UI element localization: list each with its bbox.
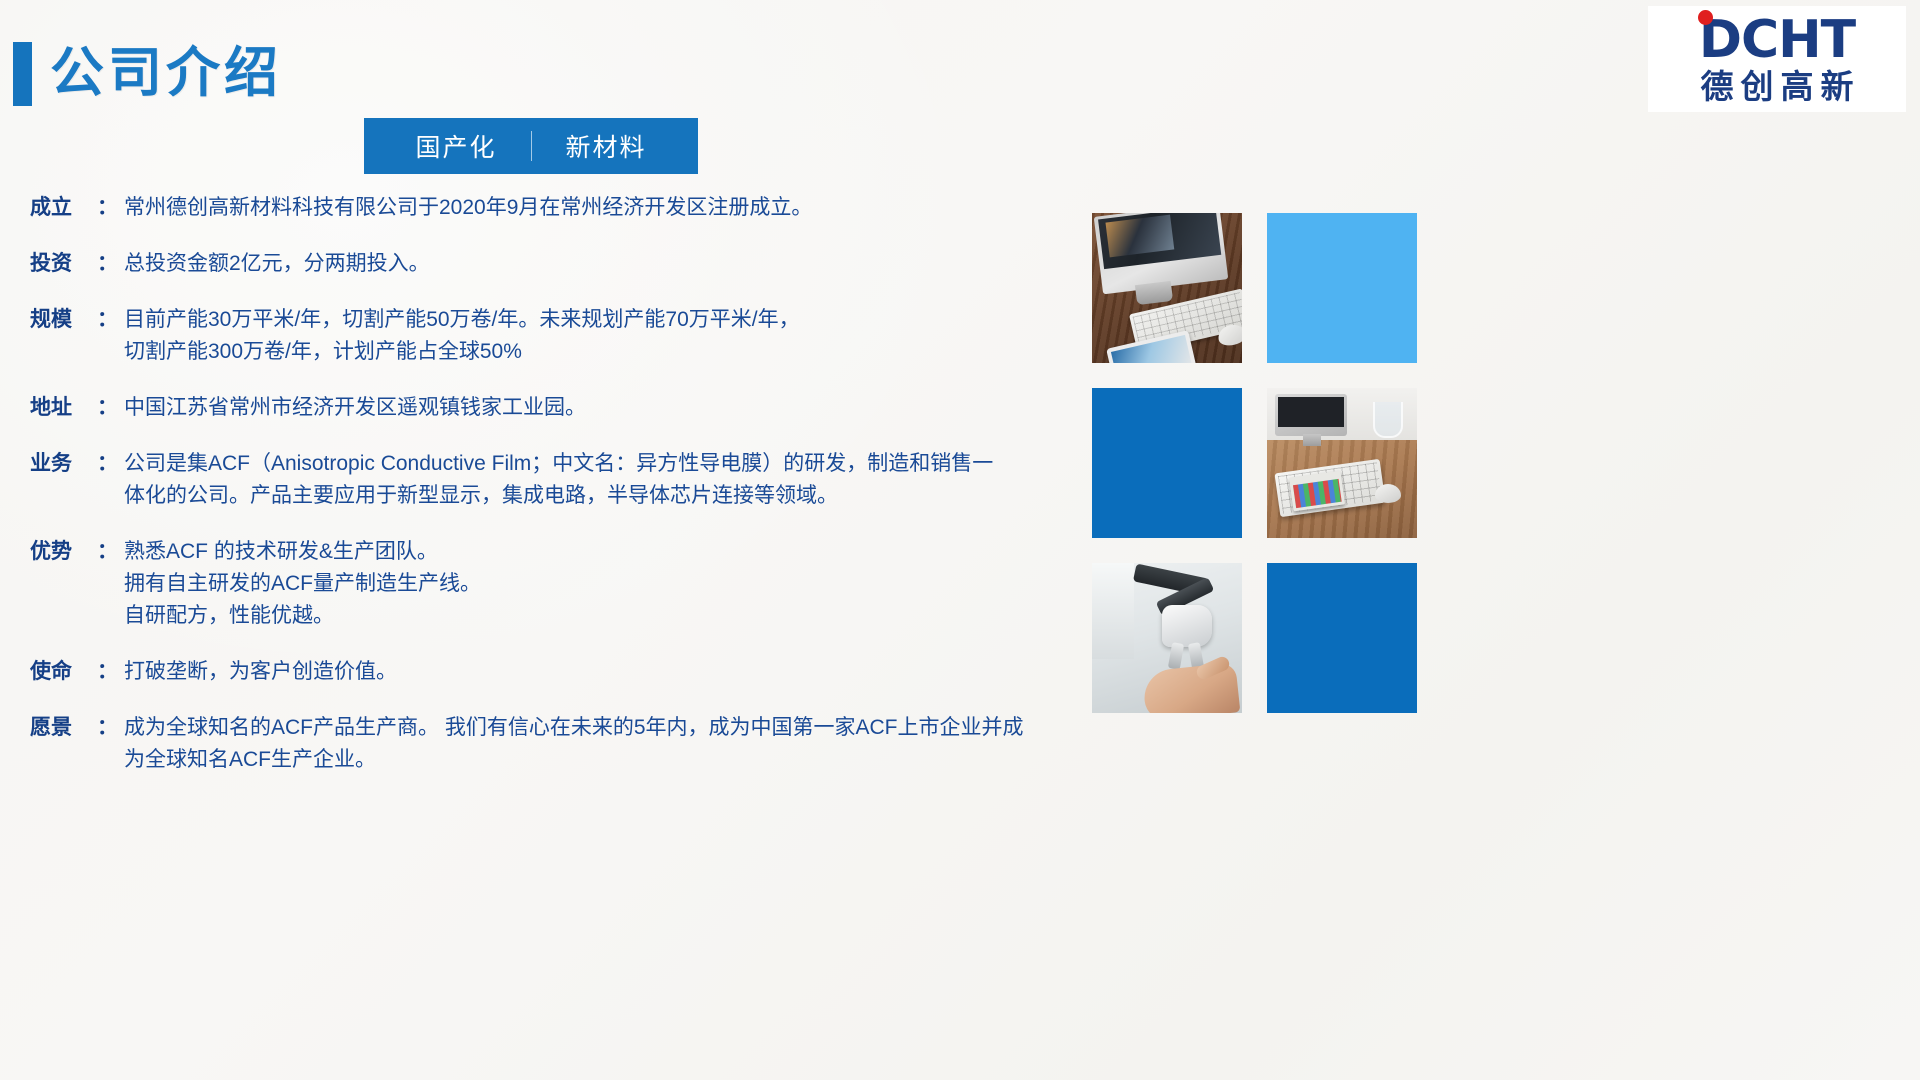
light-blue-block xyxy=(1267,213,1417,363)
equipment-panel xyxy=(1092,563,1134,659)
info-label: 优势 xyxy=(30,536,96,568)
tagline-divider xyxy=(531,131,532,161)
logo-red-dot-icon xyxy=(1698,10,1713,25)
desk-monitor-calculator-photo xyxy=(1267,388,1417,538)
robot-head xyxy=(1162,605,1212,647)
info-row-vision: 愿景 ： 成为全球知名的ACF产品生产商。 我们有信心在未来的5年内，成为中国第… xyxy=(30,712,1090,776)
desk-imac-keyboard-tablet-photo xyxy=(1092,213,1242,363)
image-grid xyxy=(1092,213,1417,713)
blue-block xyxy=(1092,388,1242,538)
info-row-founding: 成立 ： 常州德创高新材料科技有限公司于2020年9月在常州经济开发区注册成立。 xyxy=(30,192,1090,224)
info-row-investment: 投资 ： 总投资金额2亿元，分两期投入。 xyxy=(30,248,1090,280)
company-info-list: 成立 ： 常州德创高新材料科技有限公司于2020年9月在常州经济开发区注册成立。… xyxy=(30,192,1090,800)
glass-icon xyxy=(1373,402,1403,438)
info-row-mission: 使命 ： 打破垄断，为客户创造价值。 xyxy=(30,656,1090,688)
tagline-banner: 国产化 新材料 xyxy=(364,118,698,174)
info-value: 成为全球知名的ACF产品生产商。 我们有信心在未来的5年内，成为中国第一家ACF… xyxy=(124,712,1090,776)
info-value: 打破垄断，为客户创造价值。 xyxy=(124,656,1090,688)
info-label: 愿景 xyxy=(30,712,96,744)
calculator-icon xyxy=(1289,471,1345,512)
info-value: 中国江苏省常州市经济开发区遥观镇钱家工业园。 xyxy=(124,392,1090,424)
monitor-stand xyxy=(1303,434,1321,446)
info-colon: ： xyxy=(96,192,124,224)
info-label: 地址 xyxy=(30,392,96,424)
logo-wordmark-text: DCHT xyxy=(1699,14,1855,66)
info-label: 投资 xyxy=(30,248,96,280)
company-logo: DCHT 德创高新 xyxy=(1648,6,1906,112)
monitor-icon xyxy=(1275,394,1347,436)
info-colon: ： xyxy=(96,448,124,480)
info-value: 目前产能30万平米/年，切割产能50万卷/年。未来规划产能70万平米/年， 切割… xyxy=(124,304,1090,368)
logo-chinese-name: 德创高新 xyxy=(1694,69,1861,105)
logo-wordmark: DCHT xyxy=(1699,14,1855,66)
info-colon: ： xyxy=(96,536,124,568)
blue-block xyxy=(1267,563,1417,713)
info-colon: ： xyxy=(96,304,124,336)
info-value: 总投资金额2亿元，分两期投入。 xyxy=(124,248,1090,280)
info-row-advantage: 优势 ： 熟悉ACF 的技术研发&生产团队。 拥有自主研发的ACF量产制造生产线… xyxy=(30,536,1090,632)
title-accent-bar xyxy=(13,42,32,106)
tagline-left: 国产化 xyxy=(415,128,496,164)
tagline-right: 新材料 xyxy=(566,128,647,164)
info-colon: ： xyxy=(96,248,124,280)
info-value: 常州德创高新材料科技有限公司于2020年9月在常州经济开发区注册成立。 xyxy=(124,192,1090,224)
info-row-address: 地址 ： 中国江苏省常州市经济开发区遥观镇钱家工业园。 xyxy=(30,392,1090,424)
info-colon: ： xyxy=(96,392,124,424)
info-label: 业务 xyxy=(30,448,96,480)
info-label: 规模 xyxy=(30,304,96,336)
info-value: 公司是集ACF（Anisotropic Conductive Film；中文名：… xyxy=(124,448,1090,512)
info-colon: ： xyxy=(96,656,124,688)
mouse-icon xyxy=(1375,484,1401,503)
info-colon: ： xyxy=(96,712,124,744)
info-label: 使命 xyxy=(30,656,96,688)
info-row-business: 业务 ： 公司是集ACF（Anisotropic Conductive Film… xyxy=(30,448,1090,512)
robot-arm-hand-photo xyxy=(1092,563,1242,713)
page-title: 公司介绍 xyxy=(50,38,282,108)
monitor-screen xyxy=(1098,213,1221,269)
info-label: 成立 xyxy=(30,192,96,224)
info-row-scale: 规模 ： 目前产能30万平米/年，切割产能50万卷/年。未来规划产能70万平米/… xyxy=(30,304,1090,368)
info-value: 熟悉ACF 的技术研发&生产团队。 拥有自主研发的ACF量产制造生产线。 自研配… xyxy=(124,536,1090,632)
slide-root: 公司介绍 DCHT 德创高新 国产化 新材料 成立 ： 常州德创高新材料科技有限… xyxy=(0,0,1920,1080)
